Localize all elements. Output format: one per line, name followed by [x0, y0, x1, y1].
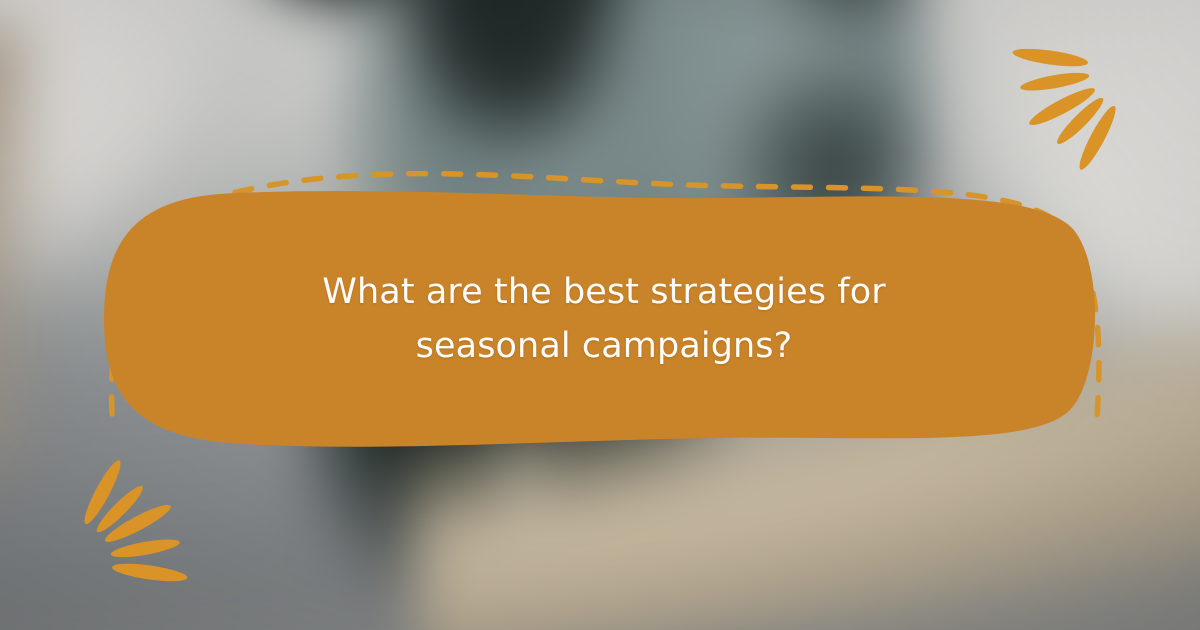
question-card-canvas: What are the best strategies for seasona… [0, 0, 1200, 630]
question-card[interactable]: What are the best strategies for seasona… [104, 190, 1104, 448]
question-text: What are the best strategies for seasona… [254, 265, 954, 374]
sunburst-ray [1013, 45, 1133, 69]
sunburst-bottom-left-icon [0, 448, 188, 630]
sunburst-top-right-icon [1012, 0, 1200, 182]
question-text-container: What are the best strategies for seasona… [104, 190, 1104, 448]
sunburst-ray [68, 561, 188, 585]
background-warm-strip [0, 24, 34, 469]
